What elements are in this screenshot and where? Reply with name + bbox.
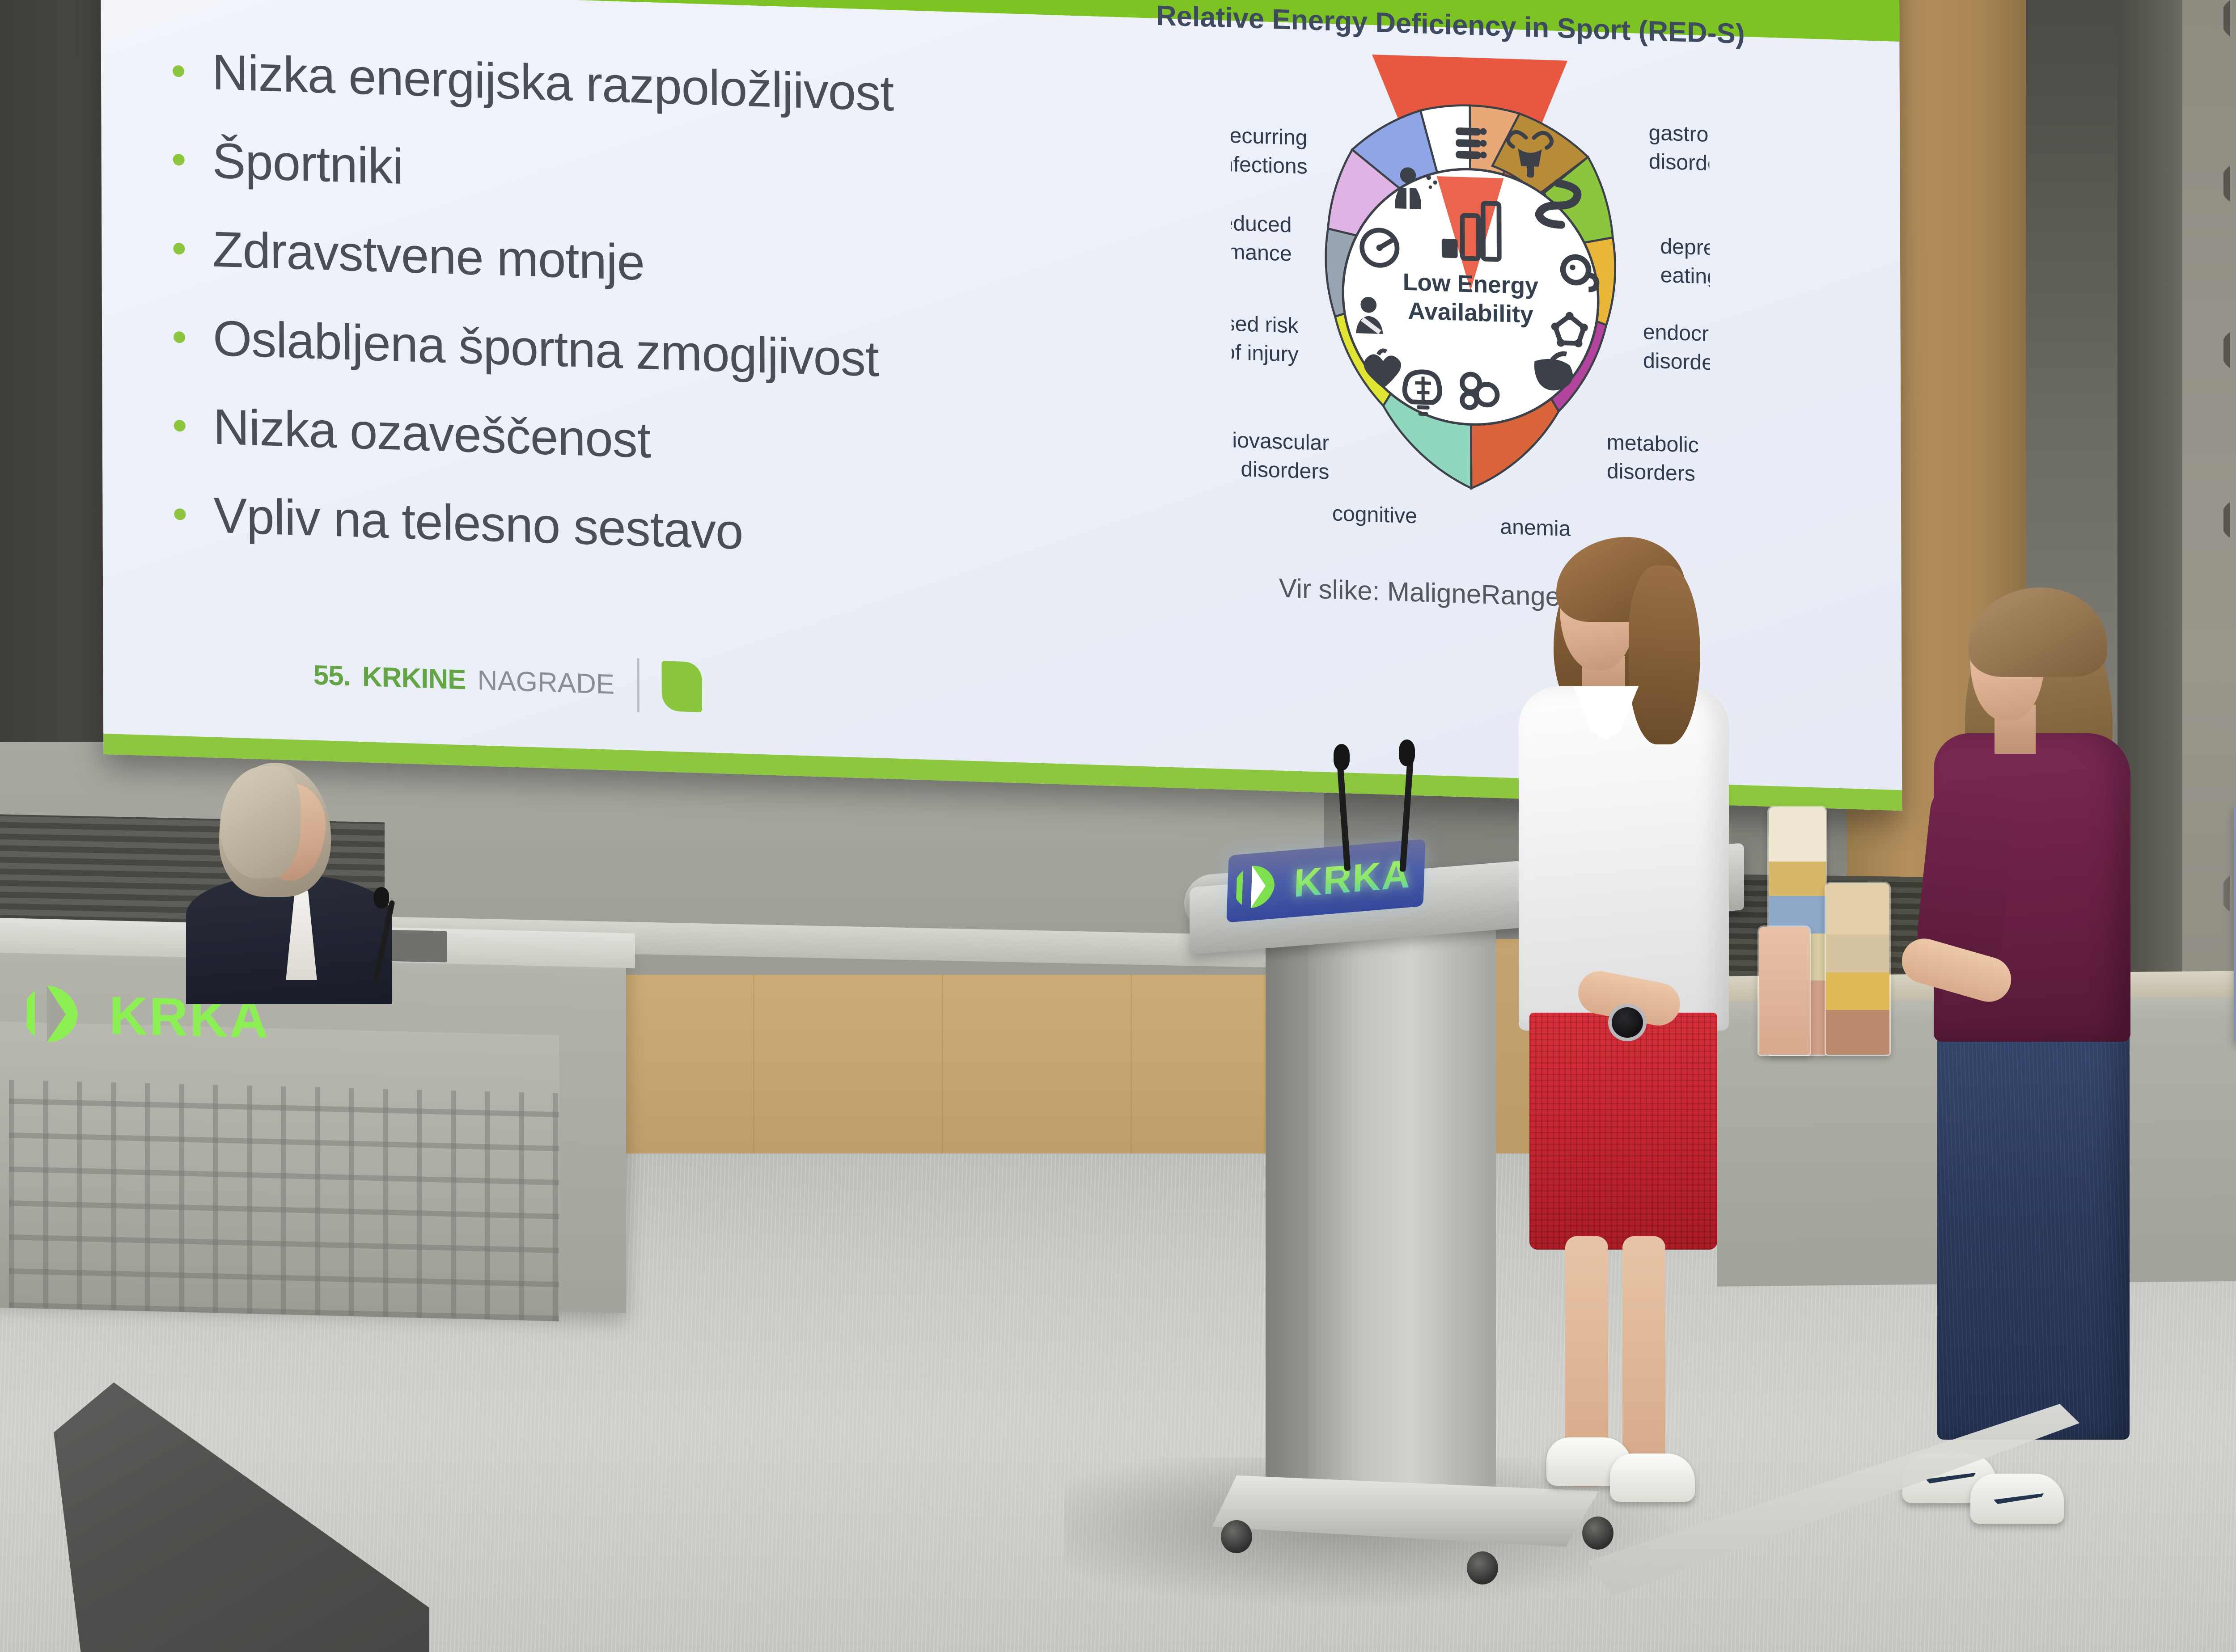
label-cardiovascular-1: cardiovascular	[1231, 427, 1330, 455]
krka-mark-icon	[2223, 324, 2236, 376]
cylinder-layer	[1826, 972, 1889, 1010]
list-item: Nizka energijska razpoložljivost	[173, 46, 1179, 128]
label-endocrine-2: disorders	[1643, 348, 1711, 375]
desk-perforation-pattern	[9, 1080, 559, 1321]
center-label-line1: Low Energy	[1403, 269, 1539, 300]
shoe-swoosh-icon	[1994, 1493, 2044, 1504]
slide-bullet-list: Nizka energijska razpoložljivost Športni…	[173, 46, 1181, 609]
krka-mark-icon	[2223, 494, 2236, 546]
presenter1-hair-side	[1629, 566, 1700, 744]
footer-divider	[637, 658, 639, 712]
lectern-caster	[1582, 1517, 1613, 1550]
label-infections-2: infections	[1231, 152, 1308, 178]
bullet-dot-icon	[173, 154, 185, 166]
lectern-column	[1308, 923, 1496, 1487]
slide-footer-branding: 55. KRKINE NAGRADE	[313, 648, 702, 714]
center-label-line2: Availability	[1408, 298, 1533, 328]
cylinder-layer	[1769, 862, 1826, 896]
lectern-caster	[1221, 1520, 1252, 1553]
krka-wall-logo: KRKA	[2223, 324, 2236, 376]
list-item: Vpliv na telesno sestavo	[174, 489, 1180, 571]
bullet-dot-icon	[174, 331, 185, 343]
lectern-krka-wordmark: KRKA	[1293, 851, 1412, 906]
presenter1-watch	[1608, 1004, 1647, 1041]
presenter1-shoe	[1610, 1453, 1695, 1502]
presenter-primary	[1498, 539, 1749, 1487]
krka-mark-icon	[1236, 859, 1287, 913]
label-injury-1: increased risk	[1231, 309, 1299, 338]
presenter2-hair-top	[1969, 587, 2107, 677]
cylinder-layer	[1826, 1010, 1889, 1055]
label-injury-2: of injury	[1231, 340, 1299, 367]
label-metabolic-2: disorders	[1607, 459, 1695, 486]
label-infections-1: recurring	[1231, 123, 1308, 150]
label-gastrointestinal-2: disorders	[1649, 149, 1711, 176]
cylinder-layer	[1826, 934, 1889, 972]
krka-wall-logo: KRKA	[2223, 494, 2236, 546]
bullet-label: Zdravstvene motnje	[212, 224, 644, 289]
spine-icon	[1456, 127, 1487, 159]
presenter-secondary	[1927, 590, 2151, 1534]
label-anemia: anemia	[1500, 515, 1571, 541]
label-depression-1: depression and	[1660, 234, 1711, 263]
list-item: Športniki	[173, 134, 1179, 217]
presenter1-leg	[1622, 1236, 1665, 1487]
label-performance-1: reduced	[1231, 211, 1292, 237]
cylinder-layer	[1769, 807, 1826, 862]
lectern-caster	[1467, 1551, 1498, 1584]
label-cardiovascular-2: disorders	[1241, 457, 1329, 484]
cylinder-layer	[1826, 883, 1889, 934]
footer-word: NAGRADE	[477, 664, 614, 701]
krka-wall-logo: KRKA	[2223, 157, 2236, 210]
presentation-scene: KRKA KRKA KRKA	[0, 0, 2236, 1652]
krka-wall-logo: KRKA	[2223, 0, 2236, 45]
list-item: Oslabljena športna zmogljivost	[174, 312, 1180, 394]
lectern-microphone-head	[1399, 739, 1415, 766]
bullet-label: Nizka energijska razpoložljivost	[212, 47, 894, 119]
bullet-label: Nizka ozaveščenost	[213, 401, 651, 466]
wide-cylinder	[1825, 882, 1891, 1056]
short-cylinder	[1757, 925, 1811, 1056]
moderator-person	[215, 763, 402, 995]
label-cognitive-2: deficits	[1350, 531, 1417, 544]
moderator-hair-front	[220, 766, 301, 878]
footer-brand: KRKINE	[362, 661, 466, 696]
label-depression-2: eating disorders	[1660, 263, 1711, 292]
krka-mark-icon	[2223, 157, 2236, 210]
left-dark-wall	[0, 0, 112, 787]
cylinder-layer	[1759, 927, 1810, 1055]
bullet-dot-icon	[174, 420, 186, 432]
label-cognitive-1: cognitive	[1332, 501, 1417, 528]
bullet-dot-icon	[173, 242, 185, 254]
label-gastrointestinal-1: gastrointestinal	[1649, 121, 1711, 149]
lectern-microphone-head	[1334, 744, 1350, 771]
bullet-label: Oslabljena športna zmogljivost	[213, 313, 879, 384]
label-metabolic-1: metabolic	[1607, 430, 1699, 457]
triad-sub-1b: bone density	[1361, 50, 1470, 52]
bullet-label: Vpliv na telesno sestavo	[213, 490, 743, 558]
list-item: Nizka ozaveščenost	[174, 400, 1180, 483]
krka-mark-icon	[27, 980, 94, 1049]
list-item: Zdravstvene motnje	[173, 223, 1179, 305]
footer-leaf-icon	[661, 661, 702, 712]
presenter2-shoe	[1970, 1474, 2064, 1524]
krka-mark-icon	[2223, 0, 2236, 45]
presenter2-jeans	[1937, 1028, 2130, 1440]
bullet-dot-icon	[174, 508, 186, 520]
bullet-label: Športniki	[212, 135, 403, 193]
presenter1-skirt	[1529, 1013, 1717, 1250]
label-performance-2: performance	[1231, 238, 1292, 266]
lab-instrument	[2234, 805, 2236, 1042]
footer-number: 55.	[313, 659, 351, 692]
red-s-wheel-chart: Low Energy Availability Female Athlete T…	[1231, 50, 1711, 544]
desk-microphone-head	[374, 887, 389, 908]
label-endocrine-1: endocrine	[1643, 320, 1711, 347]
bullet-dot-icon	[173, 65, 184, 77]
